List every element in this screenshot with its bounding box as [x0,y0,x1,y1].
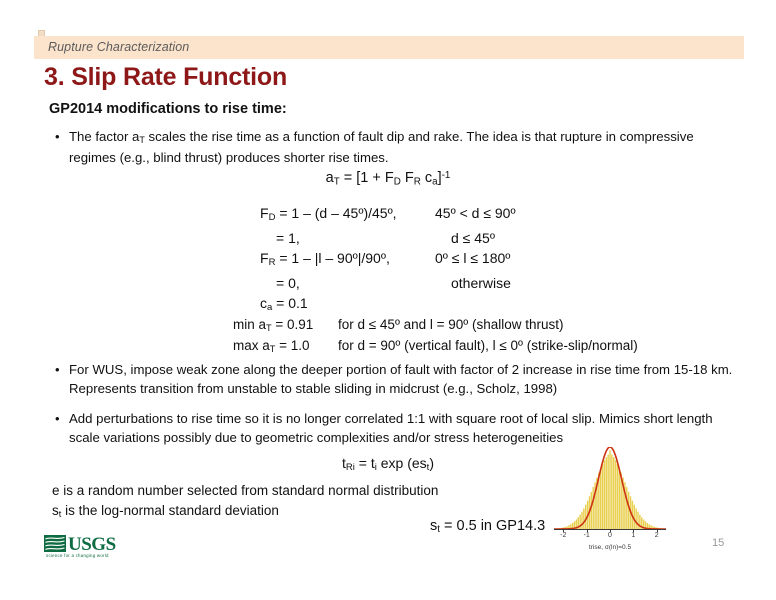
eq-aT-sub-D: D [394,176,401,187]
equation-row: = 0, otherwise [260,273,516,293]
chart-plot-area [554,447,666,529]
eq-aT-sup: -1 [442,170,451,181]
chart-tick-label: 1 [631,532,635,539]
subtitle: GP2014 modifications to rise time: [49,101,287,117]
bullet-1-part2: scales the rise time as a function of fa… [69,129,694,165]
page-number: 15 [712,537,724,549]
chart-bar [634,505,635,529]
bullet-text-3: Add perturbations to rise time so it is … [69,410,745,447]
bullet-item-2: • For WUS, impose weak zone along the de… [55,361,745,398]
chart-tick-label: 2 [655,532,659,539]
usgs-tagline: science for a changing world [46,553,109,558]
eq-aT-mid: F [401,170,414,186]
eq-aT-lhs: a [326,170,334,186]
equation-lhs: FR = 1 – |l – 90º|/90º, [260,248,435,273]
equation-condition: d ≤ 45º [451,228,495,248]
note-2-pre: s [52,503,59,518]
chart-bar [637,512,638,529]
equation-lhs: FD = 1 – (d – 45º)/45º, [260,203,435,228]
usgs-logo: USGS science for a changing world [44,534,122,560]
chart-bar [583,508,584,529]
equation-aT: aT = [1 + FD FR ca]-1 [0,170,776,187]
chart-tick-label: -2 [560,532,566,539]
header-band: Rupture Characterization [34,36,744,59]
equation-lhs: ca = 0.1 [260,293,435,318]
chart-bar [611,455,612,529]
bullet-text-2: For WUS, impose weak zone along the deep… [69,361,745,398]
minmax-lhs: min aT = 0.91 [233,316,338,337]
eq-tri-post: exp (es [377,455,427,471]
eq-row4-base: c [260,295,267,311]
bullet-item-1: • The factor aT scales the rise time as … [55,128,735,168]
minmax1-post: = 1.0 [275,338,309,353]
bullet-marker: • [55,361,69,380]
minmax-row: min aT = 0.91 for d ≤ 45º and l = 90º (s… [233,316,638,337]
chart-bar [592,487,593,529]
chart-bar [602,464,603,529]
eq-row2-base: F [260,250,269,266]
bullet-marker: • [55,128,69,147]
rise-time-distribution-chart: -2-1012 trise, σ(ln)=0.5 [546,447,694,557]
chart-tick-label: -1 [584,532,590,539]
chart-bar [591,492,592,529]
chart-bar [617,464,618,529]
eq-tri-sub: Ri [346,462,355,473]
eq-aT-mid2: c [421,170,432,186]
note-lines: e is a random number selected from stand… [52,481,438,524]
equation-row: = 1, d ≤ 45º [260,228,516,248]
chart-bar [635,508,636,529]
eq-aT-rhs-pre: = [1 + F [340,170,394,186]
header-band-label: Rupture Characterization [48,40,189,54]
eq-row1-rest: = 1, [276,230,300,246]
chart-x-label: trise, σ(ln)=0.5 [554,544,666,551]
note-line-1: e is a random number selected from stand… [52,481,438,501]
chart-bar [613,457,614,529]
eq-row2-rest: = 1 – |l – 90º|/90º, [275,250,389,266]
note-2-post: is the log-normal standard deviation [61,503,279,518]
bullet-marker: • [55,410,69,429]
note-line-2: st is the log-normal standard deviation [52,501,438,525]
minmax0-pre: min a [233,317,266,332]
chart-bar [615,460,616,529]
minmax-condition: for d ≤ 45º and l = 90º (shallow thrust) [338,316,564,337]
chart-bar [600,468,601,529]
chart-bar [606,457,607,529]
st-note-post: = 0.5 in GP14.3 [440,518,545,534]
eq-row4-rest: = 0.1 [272,295,307,311]
note-1-text: e is a random number selected from stand… [52,483,438,498]
slide-root: { "header": { "band_label": "Rupture Cha… [0,0,776,600]
chart-bar [626,487,627,529]
chart-bar [607,455,608,529]
eq-row0-base: F [260,205,269,221]
bullet-text-1: The factor aT scales the rise time as a … [69,128,735,168]
chart-bar [585,505,586,529]
chart-tick-label: 0 [608,532,612,539]
equation-row: FR = 1 – |l – 90º|/90º, 0º ≤ l ≤ 180º [260,248,516,273]
bullet-1-part1: The factor a [69,129,139,144]
eq-row0-rest: = 1 – (d – 45º)/45º, [275,205,396,221]
equation-condition: 45º < d ≤ 90º [435,203,516,228]
st-note: st = 0.5 in GP14.3 [430,518,545,535]
chart-bars [554,450,666,529]
minmax-block: min aT = 0.91 for d ≤ 45º and l = 90º (s… [233,316,638,358]
chart-bar [609,450,610,529]
chart-bar [604,460,605,529]
minmax-lhs: max aT = 1.0 [233,337,338,358]
eq-row3-rest: = 0, [276,275,300,291]
bullet-item-3: • Add perturbations to rise time so it i… [55,410,745,447]
equation-lhs: = 0, [260,273,451,293]
minmax-condition: for d = 90º (vertical fault), l ≤ 0º (st… [338,337,638,358]
equation-condition: otherwise [451,273,511,293]
minmax0-post: = 0.91 [272,317,314,332]
chart-bar [581,512,582,529]
eq-tri-end: ) [429,455,434,471]
usgs-wave-mark-icon [44,535,66,552]
equation-condition: 0º ≤ l ≤ 180º [435,248,510,273]
equation-row: ca = 0.1 [260,293,516,318]
page-title: 3. Slip Rate Function [44,63,287,92]
chart-bar [628,492,629,529]
equation-definitions-block: FD = 1 – (d – 45º)/45º, 45º < d ≤ 90º = … [260,203,516,318]
minmax1-pre: max a [233,338,270,353]
eq-tri-mid: = t [355,455,375,471]
equation-lhs: = 1, [260,228,451,248]
minmax-row: max aT = 1.0 for d = 90º (vertical fault… [233,337,638,358]
eq-aT-sub-R: R [414,176,421,187]
chart-bar [619,468,620,529]
equation-row: FD = 1 – (d – 45º)/45º, 45º < d ≤ 90º [260,203,516,228]
